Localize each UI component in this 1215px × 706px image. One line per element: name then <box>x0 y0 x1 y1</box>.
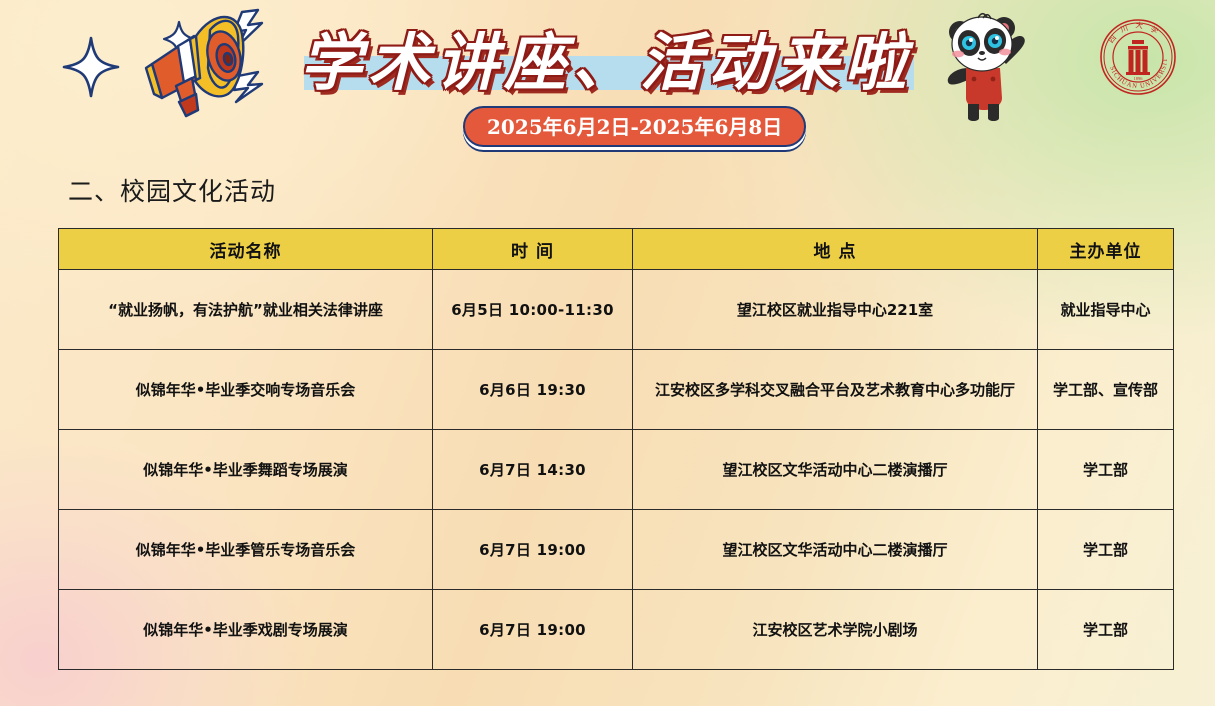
table-header-row: 活动名称 时 间 地 点 主办单位 <box>59 229 1174 270</box>
cell-organizer: 就业指导中心 <box>1038 270 1174 350</box>
table-row: 似锦年华•毕业季管乐专场音乐会 6月7日 19:00 望江校区文华活动中心二楼演… <box>59 510 1174 590</box>
sparkle-large-icon <box>62 36 120 98</box>
table-row: 似锦年华•毕业季戏剧专场展演 6月7日 19:00 江安校区艺术学院小剧场 学工… <box>59 590 1174 670</box>
megaphone-icon <box>138 6 268 121</box>
cell-organizer: 学工部 <box>1038 510 1174 590</box>
table-row: “就业扬帆，有法护航”就业相关法律讲座 6月5日 10:00-11:30 望江校… <box>59 270 1174 350</box>
banner-title: 学术讲座、活动来啦 <box>296 18 916 108</box>
poster-page: 学术讲座、活动来啦 2025年6月2日-2025年6月8日 <box>0 0 1215 706</box>
activity-table-container: 活动名称 时 间 地 点 主办单位 “就业扬帆，有法护航”就业相关法律讲座 6月… <box>58 228 1173 670</box>
table-row: 似锦年华•毕业季交响专场音乐会 6月6日 19:30 江安校区多学科交叉融合平台… <box>59 350 1174 430</box>
cell-place: 江安校区多学科交叉融合平台及艺术教育中心多功能厅 <box>633 350 1038 430</box>
cell-place: 江安校区艺术学院小剧场 <box>633 590 1038 670</box>
cell-time: 6月7日 14:30 <box>433 430 633 510</box>
cell-time: 6月7日 19:00 <box>433 590 633 670</box>
cell-place: 望江校区就业指导中心221室 <box>633 270 1038 350</box>
banner-title-group: 学术讲座、活动来啦 <box>296 18 916 108</box>
activity-table: 活动名称 时 间 地 点 主办单位 “就业扬帆，有法护航”就业相关法律讲座 6月… <box>58 228 1174 670</box>
cell-organizer: 学工部 <box>1038 590 1174 670</box>
sichuan-university-logo-icon: 1896 SICHUAN UNIVERSITY 四川大学 <box>1099 18 1177 96</box>
table-body: “就业扬帆，有法护航”就业相关法律讲座 6月5日 10:00-11:30 望江校… <box>59 270 1174 670</box>
column-header-activity-name: 活动名称 <box>59 229 433 270</box>
cell-time: 6月7日 19:00 <box>433 510 633 590</box>
cell-time: 6月6日 19:30 <box>433 350 633 430</box>
column-header-place: 地 点 <box>633 229 1038 270</box>
cell-time: 6月5日 10:00-11:30 <box>433 270 633 350</box>
cell-organizer: 学工部 <box>1038 430 1174 510</box>
header-banner: 学术讲座、活动来啦 2025年6月2日-2025年6月8日 <box>0 0 1215 160</box>
logo-year: 1896 <box>1134 76 1144 81</box>
cell-activity-name: 似锦年华•毕业季戏剧专场展演 <box>59 590 433 670</box>
cell-place: 望江校区文华活动中心二楼演播厅 <box>633 510 1038 590</box>
column-header-organizer: 主办单位 <box>1038 229 1174 270</box>
cell-activity-name: “就业扬帆，有法护航”就业相关法律讲座 <box>59 270 433 350</box>
cell-activity-name: 似锦年华•毕业季交响专场音乐会 <box>59 350 433 430</box>
table-row: 似锦年华•毕业季舞蹈专场展演 6月7日 14:30 望江校区文华活动中心二楼演播… <box>59 430 1174 510</box>
cell-place: 望江校区文华活动中心二楼演播厅 <box>633 430 1038 510</box>
cell-organizer: 学工部、宣传部 <box>1038 350 1174 430</box>
section-heading: 二、校园文化活动 <box>68 172 276 208</box>
date-range-badge: 2025年6月2日-2025年6月8日 <box>463 106 806 147</box>
cell-activity-name: 似锦年华•毕业季舞蹈专场展演 <box>59 430 433 510</box>
cell-activity-name: 似锦年华•毕业季管乐专场音乐会 <box>59 510 433 590</box>
panda-mascot-icon <box>938 6 1030 124</box>
table-head: 活动名称 时 间 地 点 主办单位 <box>59 229 1174 270</box>
column-header-time: 时 间 <box>433 229 633 270</box>
